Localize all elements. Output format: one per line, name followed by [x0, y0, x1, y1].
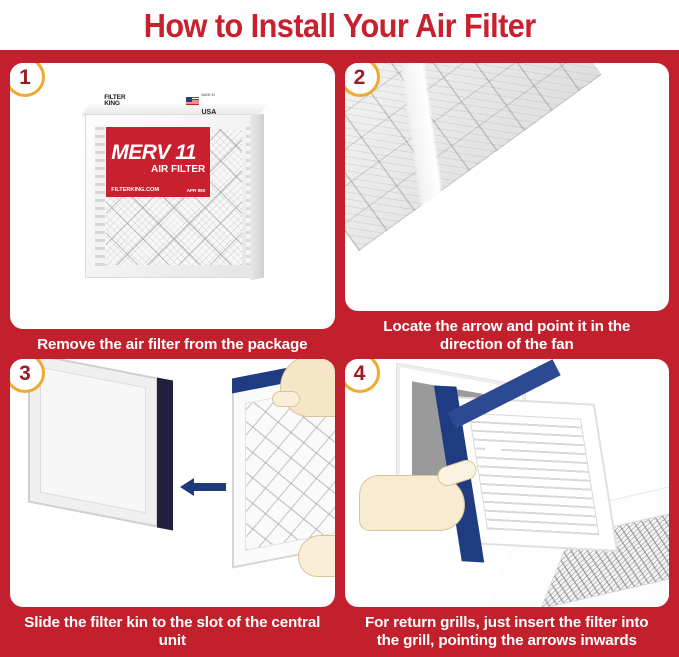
made-in-usa-text: MADE IN USA — [201, 83, 216, 119]
step-caption-2: Locate the arrow and point it in the dir… — [345, 311, 670, 355]
usa-flag-icon — [186, 97, 199, 105]
filter-corner-photo: Air Filter AIRFLOW — [345, 63, 670, 311]
page-title: How to Install Your Air Filter — [144, 9, 536, 42]
steps-grid: 1 FILTER KING — [0, 50, 679, 657]
step-3-card: 3 — [10, 359, 335, 607]
step-4-card: 4 — [345, 359, 670, 607]
filter-arrow-tab-icon — [485, 444, 501, 455]
slide-filter-illustration — [10, 359, 335, 607]
filter-brand-row: FILTER KING MADE IN USA — [104, 95, 216, 107]
step-panel-4: 4 — [345, 359, 670, 651]
step-caption-1: Remove the air filter from the package — [10, 329, 335, 355]
grill-louvers — [468, 413, 599, 535]
central-unit-panel — [40, 367, 146, 514]
made-in-usa-badge: MADE IN USA — [186, 83, 216, 119]
hand-upper — [280, 359, 335, 417]
merv-filter-photo: FILTER KING MADE IN USA — [79, 106, 265, 286]
steps-background: 1 FILTER KING — [0, 50, 679, 657]
filter-red-label: MERV 11 AIR FILTER FILTERKING.COM APR 85… — [106, 127, 210, 197]
filter-corner-frame — [345, 63, 602, 251]
infographic-page: How to Install Your Air Filter 1 — [0, 0, 679, 657]
central-unit-slot — [157, 377, 173, 530]
step-badge-1: 1 — [10, 63, 45, 97]
filter-support-bar — [345, 63, 602, 251]
step-caption-3: Slide the filter kin to the slot of the … — [10, 607, 335, 651]
hand-lower — [298, 535, 335, 577]
step-panel-2: 2 Air Filter AIRFLOW Locate the arrow a — [345, 63, 670, 355]
website-text: FILTERKING.COM — [111, 187, 159, 193]
apr-rating: APR 850 — [187, 188, 206, 193]
step-panel-3: 3 — [10, 359, 335, 651]
label-footer: FILTERKING.COM APR 850 — [111, 187, 205, 193]
filter-side-depth — [250, 114, 264, 281]
central-unit-body — [28, 359, 158, 528]
filter-king-logo: FILTER KING — [104, 95, 125, 108]
merv-rating: MERV 11 — [111, 142, 205, 163]
step-2-card: 2 Air Filter AIRFLOW — [345, 63, 670, 311]
made-in-text: MADE IN — [201, 93, 214, 97]
step-1-card: 1 FILTER KING — [10, 63, 335, 329]
usa-text: USA — [201, 109, 216, 116]
hand-thumb — [272, 391, 300, 407]
brand-line-2: KING — [104, 101, 125, 108]
direction-arrow-icon — [180, 477, 226, 497]
step-caption-4: For return grills, just insert the filte… — [345, 607, 670, 651]
header-band: How to Install Your Air Filter — [0, 0, 679, 50]
filter-frame: FILTER KING MADE IN USA — [85, 114, 255, 278]
return-grill-illustration — [345, 359, 670, 607]
product-type: AIR FILTER — [111, 165, 205, 175]
step-panel-1: 1 FILTER KING — [10, 63, 335, 355]
filter-left-rail — [95, 127, 105, 267]
